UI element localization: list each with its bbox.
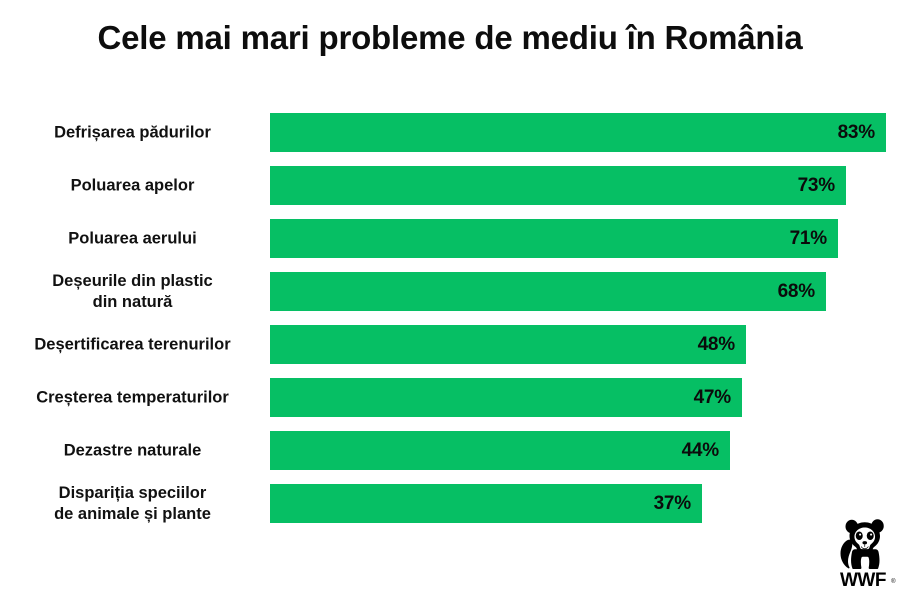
bar-fill[interactable]: 48% xyxy=(270,325,746,364)
bar-fill[interactable]: 68% xyxy=(270,272,826,311)
bar-row: Deșeurile din plastic din natură 68% xyxy=(0,272,900,311)
panda-icon: R xyxy=(835,519,891,569)
bar-category-label: Poluarea aerului xyxy=(0,228,265,249)
bar-row: Defrișarea pădurilor 83% xyxy=(0,113,900,152)
bar-category-label: Dezastre naturale xyxy=(0,440,265,461)
bar-fill[interactable]: 47% xyxy=(270,378,742,417)
bar-value-label: 37% xyxy=(654,493,702,515)
bar-fill[interactable]: 73% xyxy=(270,166,846,205)
bar-fill[interactable]: 44% xyxy=(270,431,730,470)
bar-value-label: 68% xyxy=(778,281,826,303)
bar-row: Deșertificarea terenurilor 48% xyxy=(0,325,900,364)
bar-value-label: 48% xyxy=(698,334,746,356)
bar-track: 48% xyxy=(270,325,900,364)
bar-track: 68% xyxy=(270,272,900,311)
bar-fill[interactable]: 83% xyxy=(270,113,886,152)
registered-mark: ® xyxy=(891,572,895,592)
bar-row: Dispariția speciilor de animale și plant… xyxy=(0,484,900,523)
bar-track: 37% xyxy=(270,484,900,523)
bar-fill[interactable]: 71% xyxy=(270,219,838,258)
bar-track: 44% xyxy=(270,431,900,470)
bar-row: Poluarea apelor 73% xyxy=(0,166,900,205)
bar-value-label: 73% xyxy=(798,175,846,197)
plot-area: Defrișarea pădurilor 83% Poluarea apelor… xyxy=(0,0,900,600)
bar-value-label: 71% xyxy=(790,228,838,250)
bar-track: 47% xyxy=(270,378,900,417)
bar-track: 73% xyxy=(270,166,900,205)
wwf-logo: R WWF® xyxy=(832,519,894,591)
bar-category-label: Defrișarea pădurilor xyxy=(0,122,265,143)
bar-category-label: Deșeurile din plastic din natură xyxy=(0,271,265,313)
bar-row: Dezastre naturale 44% xyxy=(0,431,900,470)
wwf-wordmark-text: WWF xyxy=(840,570,886,591)
bar-value-label: 83% xyxy=(838,122,886,144)
bar-track: 83% xyxy=(270,113,900,152)
bar-value-label: 44% xyxy=(682,440,730,462)
bar-fill[interactable]: 37% xyxy=(270,484,702,523)
bar-category-label: Creșterea temperaturilor xyxy=(0,387,265,408)
chart-container: Cele mai mari probleme de mediu în Român… xyxy=(0,0,900,600)
bar-category-label: Deșertificarea terenurilor xyxy=(0,334,265,355)
bar-value-label: 47% xyxy=(694,387,742,409)
bar-row: Creșterea temperaturilor 47% xyxy=(0,378,900,417)
wwf-wordmark: WWF® xyxy=(832,571,894,591)
bar-category-label: Poluarea apelor xyxy=(0,175,265,196)
bar-track: 71% xyxy=(270,219,900,258)
bar-row: Poluarea aerului 71% xyxy=(0,219,900,258)
bar-category-label: Dispariția speciilor de animale și plant… xyxy=(0,483,265,525)
